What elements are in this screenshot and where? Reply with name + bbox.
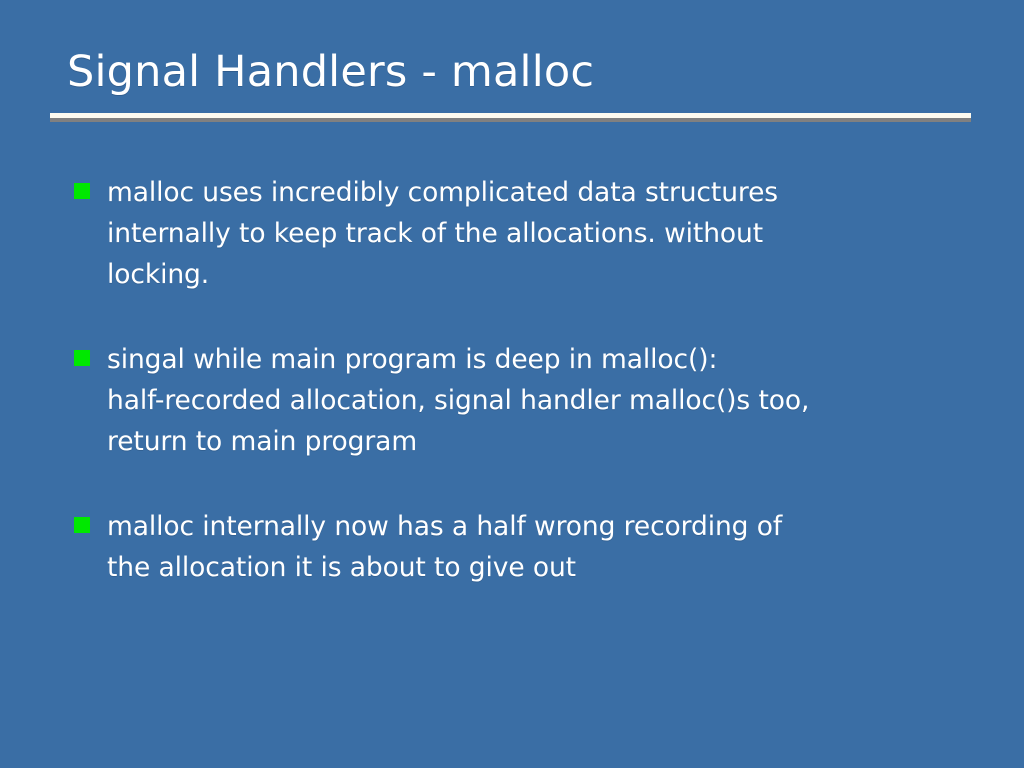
bullet-list: malloc uses incredibly complicated data … bbox=[74, 172, 974, 588]
list-item: singal while main program is deep in mal… bbox=[74, 339, 974, 462]
bullet-line: half-recorded allocation, signal handler… bbox=[107, 380, 974, 421]
bullet-text: singal while main program is deep in mal… bbox=[107, 339, 974, 462]
bullet-line: internally to keep track of the allocati… bbox=[107, 213, 974, 254]
square-bullet-icon bbox=[74, 517, 90, 533]
bullet-line: malloc uses incredibly complicated data … bbox=[107, 172, 974, 213]
square-bullet-icon bbox=[74, 183, 90, 199]
bullet-line: the allocation it is about to give out bbox=[107, 547, 974, 588]
title-divider-shadow bbox=[50, 118, 971, 122]
bullet-line: singal while main program is deep in mal… bbox=[107, 339, 974, 380]
presentation-slide: Signal Handlers - malloc malloc uses inc… bbox=[0, 0, 1024, 768]
list-item: malloc internally now has a half wrong r… bbox=[74, 506, 974, 588]
bullet-line: malloc internally now has a half wrong r… bbox=[107, 506, 974, 547]
title-divider bbox=[50, 113, 971, 122]
square-bullet-icon bbox=[74, 350, 90, 366]
bullet-text: malloc internally now has a half wrong r… bbox=[107, 506, 974, 588]
bullet-text: malloc uses incredibly complicated data … bbox=[107, 172, 974, 295]
bullet-line: return to main program bbox=[107, 421, 974, 462]
list-item: malloc uses incredibly complicated data … bbox=[74, 172, 974, 295]
title-block: Signal Handlers - malloc bbox=[50, 44, 972, 100]
page-title: Signal Handlers - malloc bbox=[50, 44, 972, 100]
bullet-line: locking. bbox=[107, 254, 974, 295]
